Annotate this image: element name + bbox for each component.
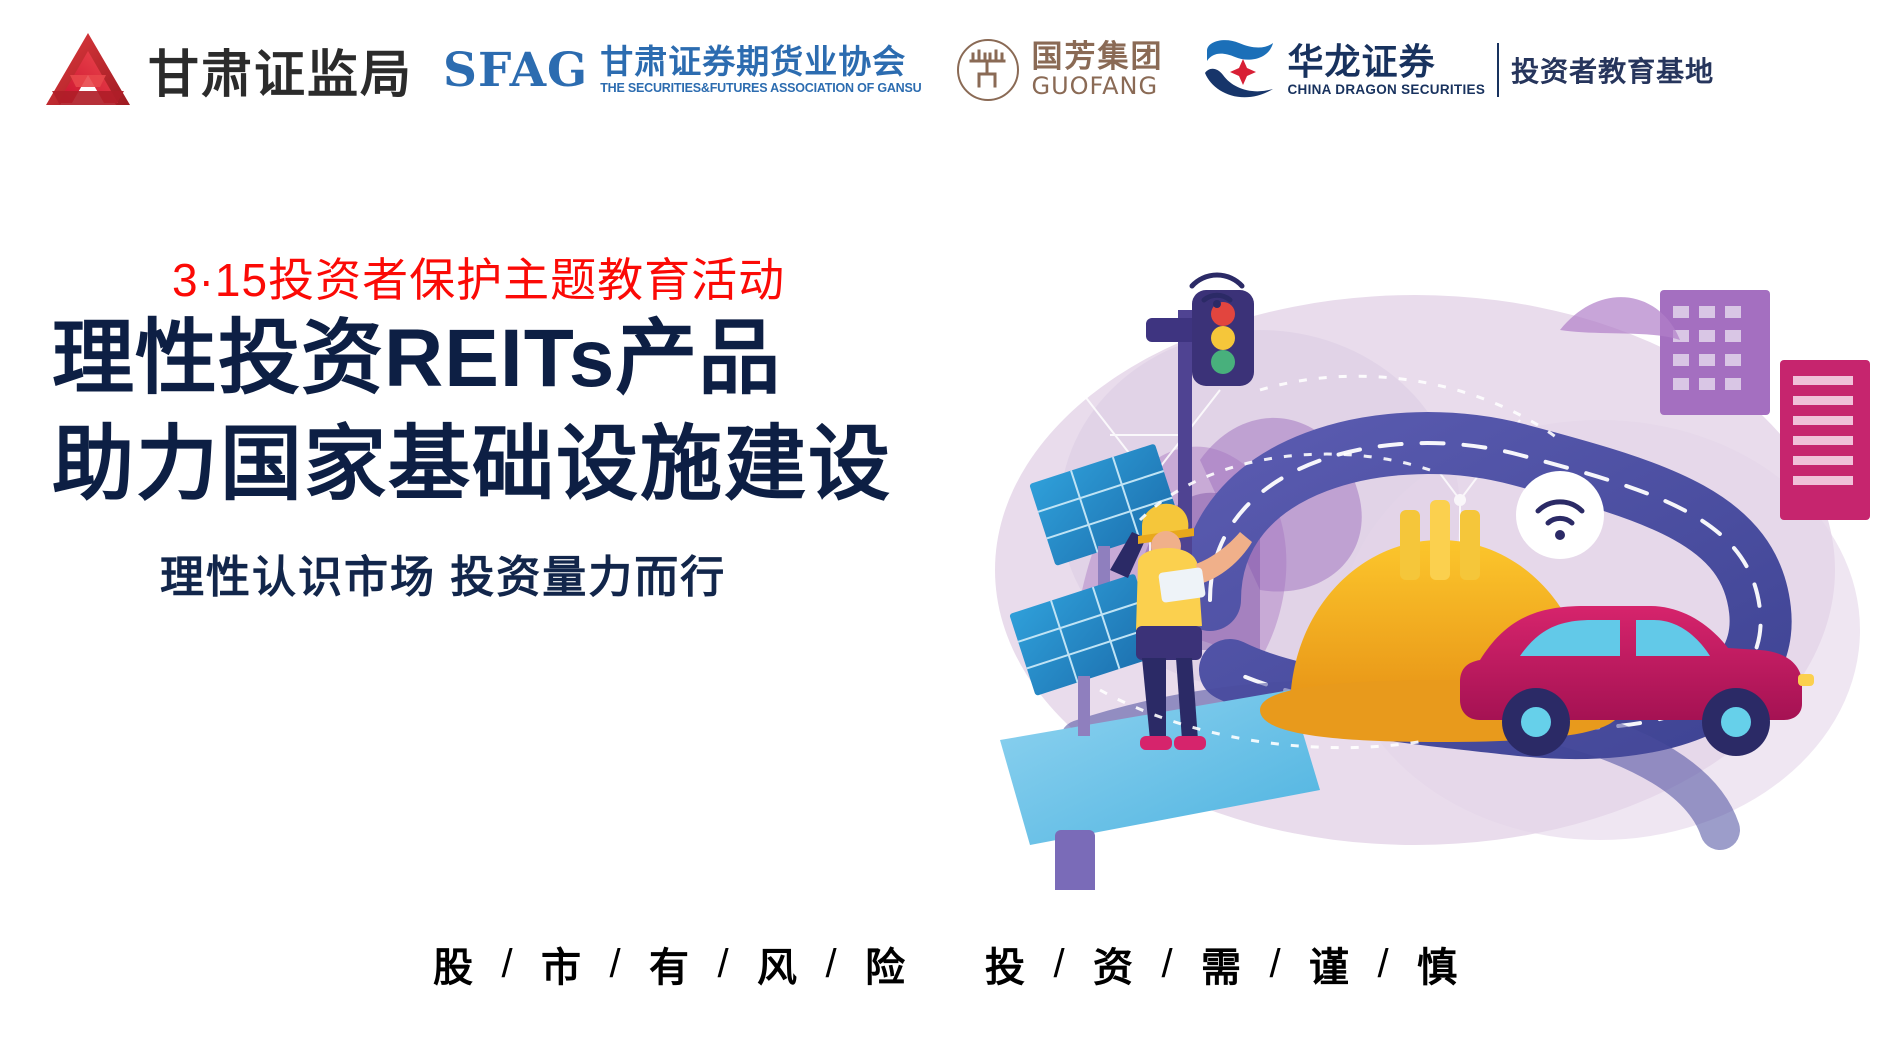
slogan-separator: /: [480, 942, 534, 987]
headline-block: 3·15投资者保护主题教育活动 理性投资REITs产品 助力国家基础设施建设 理…: [0, 255, 960, 605]
risk-slogan: 股/市/有/风/险 投/资/需/谨/慎: [0, 935, 1890, 993]
logo-guofang-english: GUOFANG: [1031, 74, 1163, 99]
slogan-separator: /: [804, 942, 858, 987]
slogan-char: 市: [534, 935, 588, 993]
investor-education-base-label: 投资者教育基地: [1511, 50, 1714, 90]
slogan-char: 风: [750, 935, 804, 993]
slogan-separator: /: [1356, 942, 1410, 987]
headline-line-2: 助力国家基础设施建设: [52, 412, 960, 519]
logo-china-dragon-label: 华龙证券: [1287, 43, 1485, 81]
logo-sfag-label: 甘肃证券期货业协会: [600, 45, 921, 79]
logo-divider: [1497, 43, 1499, 97]
slogan-char: 有: [642, 935, 696, 993]
logo-china-dragon: 华龙证券 CHINA DRAGON SECURITIES 投资者教育基地: [1203, 37, 1714, 103]
headline-subline: 理性认识市场 投资量力而行: [160, 541, 960, 605]
risk-slogan-group-1: 股/市/有/风/险: [426, 935, 912, 993]
wave-star-icon: [1203, 37, 1277, 103]
reits-infrastructure-illustration: [960, 270, 1890, 890]
deer-circle-icon: [957, 39, 1019, 101]
risk-slogan-group-2: 投/资/需/谨/慎: [978, 935, 1464, 993]
logo-gansu-csrc: 甘肃证监局: [42, 29, 413, 111]
wifi-icon: [1516, 471, 1604, 559]
slogan-char: 资: [1086, 935, 1140, 993]
slogan-char: 险: [858, 935, 912, 993]
logo-sfag-abbr: SFAG: [443, 43, 588, 98]
logo-gansu-csrc-label: 甘肃证监局: [148, 33, 413, 107]
headline-line-1: 理性投资REITs产品: [52, 306, 960, 413]
logo-sfag: SFAG 甘肃证券期货业协会 THE SECURITIES&FUTURES AS…: [443, 43, 921, 98]
logo-sfag-english: THE SECURITIES&FUTURES ASSOCIATION OF GA…: [600, 81, 921, 95]
slogan-separator: /: [1032, 942, 1086, 987]
slogan-separator: /: [1140, 942, 1194, 987]
slogan-char: 股: [426, 935, 480, 993]
campaign-kicker: 3·15投资者保护主题教育活动: [172, 255, 960, 306]
slogan-char: 谨: [1302, 935, 1356, 993]
logo-bar: 甘肃证监局 SFAG 甘肃证券期货业协会 THE SECURITIES&FUTU…: [0, 0, 1890, 140]
slogan-separator: /: [1248, 942, 1302, 987]
logo-guofang: 国芳集团 GUOFANG: [957, 39, 1163, 101]
slogan-separator: /: [588, 942, 642, 987]
slogan-char: 慎: [1410, 935, 1464, 993]
logo-guofang-label: 国芳集团: [1031, 41, 1163, 74]
slogan-char: 投: [978, 935, 1032, 993]
slogan-char: 需: [1194, 935, 1248, 993]
logo-china-dragon-english: CHINA DRAGON SECURITIES: [1287, 82, 1485, 97]
triangle-knot-icon: [42, 29, 134, 111]
slogan-separator: /: [696, 942, 750, 987]
